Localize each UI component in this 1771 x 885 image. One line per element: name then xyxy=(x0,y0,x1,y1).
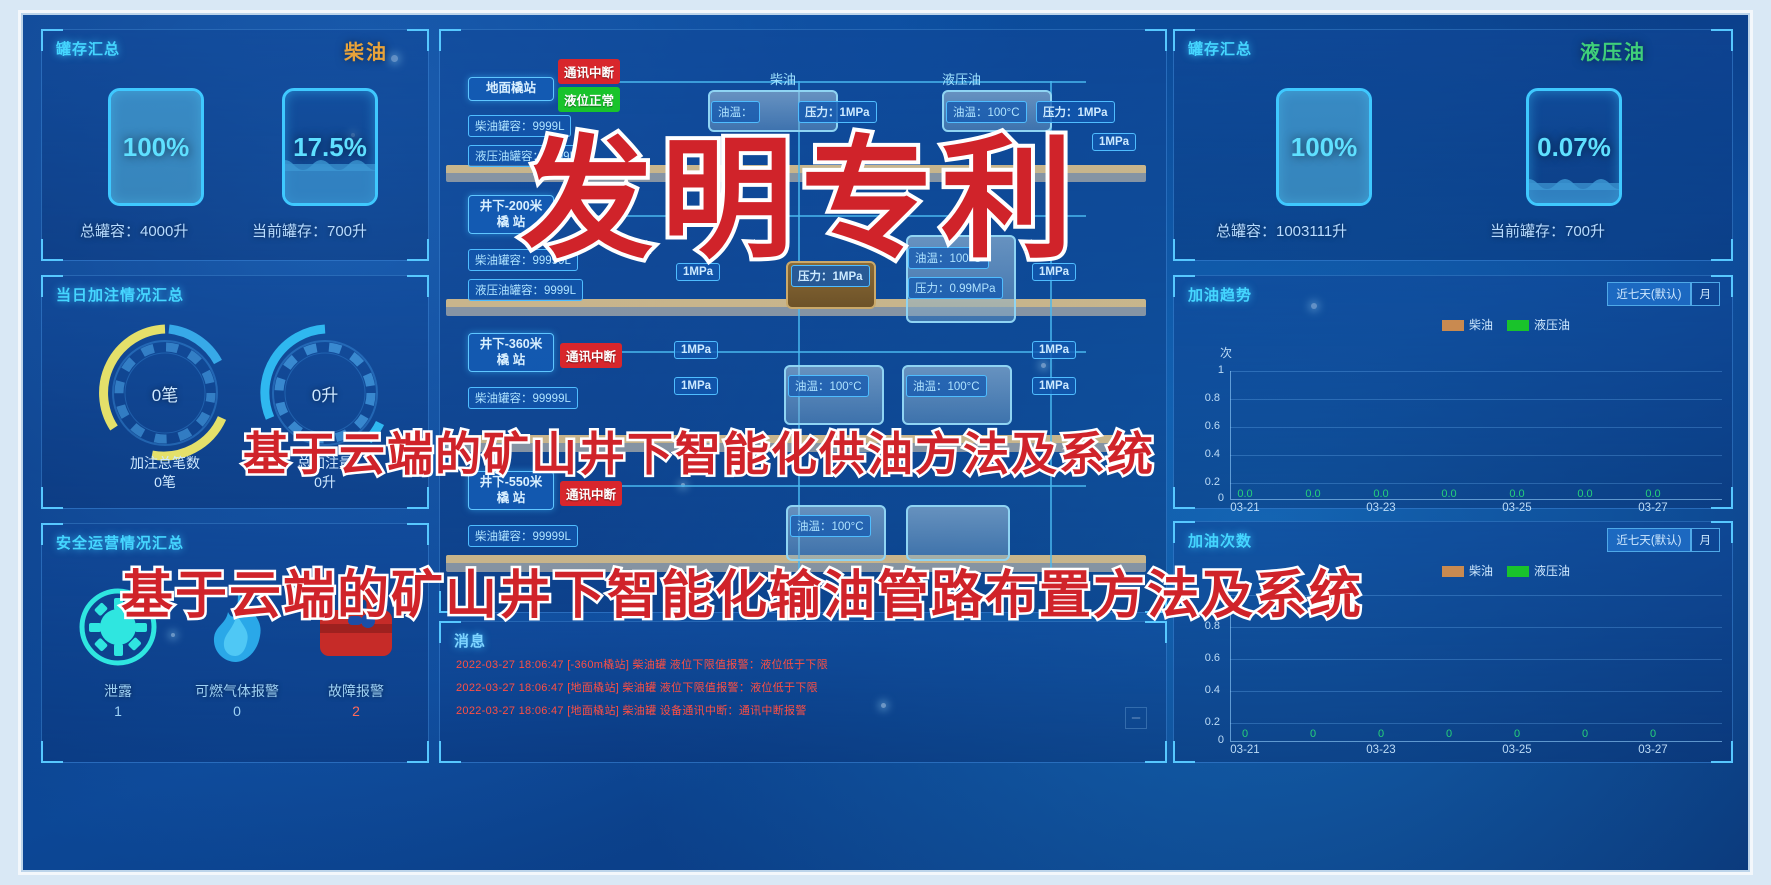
chart-point-label: 0.0 xyxy=(1300,488,1326,500)
chart-xtick: 03-25 xyxy=(1494,744,1540,756)
station-tag-diesel-cap: 柴油罐容：99999L xyxy=(468,387,578,409)
tank-percent-label: 17.5% xyxy=(285,91,375,203)
chart-range-month-button[interactable]: 月 xyxy=(1691,282,1721,306)
chart-x-axis xyxy=(1230,741,1722,742)
panel-title: 罐存汇总 xyxy=(1188,38,1252,59)
safety-label: 可燃气体报警 xyxy=(177,681,297,701)
corner-decor xyxy=(407,239,429,261)
message-list[interactable]: 2022-03-27 18:06:47 [-360m橇站] 柴油罐 液位下限值报… xyxy=(456,656,1154,725)
station-box-360m[interactable]: 井下-360米 橇 站 xyxy=(468,333,554,372)
gauge-caption-line2: 0笔 xyxy=(154,474,176,490)
tank-caption-total: 总罐容：4000升 xyxy=(80,220,188,241)
tank-gauge-total: 100% xyxy=(108,88,204,206)
pressure-tag: 1MPa xyxy=(1032,341,1076,359)
pressure-tag: 1MPa xyxy=(1032,377,1076,395)
tank-caption-total: 总罐容：1003111升 xyxy=(1216,220,1347,241)
chart-ytick: 0.2 xyxy=(1194,716,1220,728)
legend-swatch-hydraulic xyxy=(1507,320,1529,331)
corner-decor xyxy=(1711,741,1733,763)
watermark-line-1: 基于云端的矿山井下智能化供油方法及系统 xyxy=(243,418,1155,484)
chart-point-label: 0.0 xyxy=(1572,488,1598,500)
corner-decor xyxy=(1145,741,1167,763)
station-badge-comm: 通讯中断 xyxy=(560,343,622,368)
watermark-patent-title: 发明专利 xyxy=(521,93,1081,284)
safety-value: 0 xyxy=(177,703,297,719)
chart-point-label: 0.0 xyxy=(1504,488,1530,500)
chart-ytick: 0.8 xyxy=(1194,392,1220,404)
chart-xtick: 03-23 xyxy=(1358,744,1404,756)
meter-oil-temp-550m: 油温：100°C xyxy=(790,515,871,537)
chart-range-month-button[interactable]: 月 xyxy=(1691,528,1721,552)
chart-ytick: 0.2 xyxy=(1194,476,1220,488)
chart-ytick: 1 xyxy=(1198,364,1224,376)
corner-decor xyxy=(407,275,429,297)
chart-xtick: 03-27 xyxy=(1630,502,1676,514)
safety-value: 2 xyxy=(296,703,416,719)
chart-xtick: 03-21 xyxy=(1222,502,1268,514)
legend-swatch-diesel xyxy=(1442,566,1464,577)
corner-decor xyxy=(41,239,63,261)
safety-value: 1 xyxy=(58,703,178,719)
chart-xtick: 03-21 xyxy=(1222,744,1268,756)
pipe-horizontal xyxy=(566,81,1086,83)
chart-ytick: 0 xyxy=(1198,734,1224,746)
corner-decor xyxy=(1711,239,1733,261)
panel-chart-refuel-trend: 加油趋势 近七天(默认) 月 柴油 液压油 次 1 0.8 0.6 0.4 0.… xyxy=(1173,275,1733,509)
chart-point-label: 0.0 xyxy=(1232,488,1258,500)
panel-messages: 消息 2022-03-27 18:06:47 [-360m橇站] 柴油罐 液位下… xyxy=(439,621,1167,763)
chart-y-axis xyxy=(1230,371,1231,499)
corner-decor xyxy=(41,741,63,763)
legend-item-hydraulic: 液压油 xyxy=(1507,316,1570,333)
message-row: 2022-03-27 18:06:47 [-360m橇站] 柴油罐 液位下限值报… xyxy=(456,656,1154,672)
chart-gridline xyxy=(1230,723,1722,724)
message-row: 2022-03-27 18:06:47 [地面橇站] 柴油罐 设备通讯中断：通讯… xyxy=(456,702,1154,718)
station-badge-comm: 通讯中断 xyxy=(560,481,622,506)
panel-subtitle-diesel: 柴油 xyxy=(344,36,388,65)
panel-subtitle-hydraulic: 液压油 xyxy=(1580,36,1646,65)
chart-range-week-button[interactable]: 近七天(默认) xyxy=(1607,528,1690,552)
station-tag-diesel-cap: 柴油罐容：99999L xyxy=(468,525,578,547)
gauge-refuel-count: 0笔 xyxy=(90,318,240,468)
watermark-line-2: 基于云端的矿山井下智能化输油管路布置方法及系统 xyxy=(121,553,1363,628)
pressure-tag: 1MPa xyxy=(674,341,718,359)
chart-gridline xyxy=(1230,427,1722,428)
chart-legend: 柴油 液压油 xyxy=(1442,562,1570,579)
tank-percent-label: 0.07% xyxy=(1529,91,1619,203)
panel-tank-summary-diesel: 罐存汇总 柴油 100% 总罐容：4000升 17.5% 当前罐存：700升 xyxy=(41,29,429,261)
legend-item-diesel: 柴油 xyxy=(1442,562,1493,579)
chart-y-unit: 次 xyxy=(1220,344,1232,361)
chart-point-label: 0 xyxy=(1572,728,1598,740)
tank-percent-label: 100% xyxy=(111,91,201,203)
chart-point-label: 0 xyxy=(1504,728,1530,740)
legend-label-hydraulic: 液压油 xyxy=(1534,318,1570,332)
meter-oil-temp-360m: 油温：100°C xyxy=(788,375,869,397)
gauge-value: 0笔 xyxy=(90,318,240,468)
flow-label-hydraulic: 液压油 xyxy=(936,67,987,90)
corner-decor xyxy=(439,741,461,763)
chart-point-label: 0 xyxy=(1368,728,1394,740)
chart-point-label: 0 xyxy=(1436,728,1462,740)
tank-percent-label: 100% xyxy=(1279,91,1369,203)
chart-point-label: 0 xyxy=(1300,728,1326,740)
tank-gauge-current: 17.5% xyxy=(282,88,378,206)
corner-decor xyxy=(1173,239,1195,261)
tank-gauge-current: 0.07% xyxy=(1526,88,1622,206)
corner-decor xyxy=(1711,29,1733,51)
panel-title: 罐存汇总 xyxy=(56,38,120,59)
message-row: 2022-03-27 18:06:47 [地面橇站] 柴油罐 液位下限值报警：液… xyxy=(456,679,1154,695)
corner-decor xyxy=(1173,487,1195,509)
chart-range-buttons[interactable]: 近七天(默认) 月 xyxy=(1607,282,1720,306)
corner-decor xyxy=(1711,487,1733,509)
safety-label: 泄露 xyxy=(58,681,178,701)
chart-point-label: 0.0 xyxy=(1368,488,1394,500)
dashboard-frame: 罐存汇总 柴油 100% 总罐容：4000升 17.5% 当前罐存：700升 xyxy=(18,10,1753,875)
pressure-tag: 1MPa xyxy=(674,377,718,395)
panel-tank-summary-hydraulic: 罐存汇总 液压油 100% 总罐容：1003111升 0.07% 当前罐存：70… xyxy=(1173,29,1733,261)
meter-oil-temp-360m-b: 油温：100°C xyxy=(906,375,987,397)
station-badge-comm: 通讯中断 xyxy=(558,59,620,84)
chart-point-label: 0.0 xyxy=(1436,488,1462,500)
legend-item-hydraulic: 液压油 xyxy=(1507,562,1570,579)
chart-gridline xyxy=(1230,659,1722,660)
chart-point-label: 0.0 xyxy=(1640,488,1666,500)
panel-title: 加油次数 xyxy=(1188,530,1252,551)
chart-point-label: 0 xyxy=(1232,728,1258,740)
chart-xtick: 03-23 xyxy=(1358,502,1404,514)
flow-label-diesel: 柴油 xyxy=(764,67,802,90)
chart-xtick: 03-27 xyxy=(1630,744,1676,756)
chart-range-buttons[interactable]: 近七天(默认) 月 xyxy=(1607,528,1720,552)
chart-gridline xyxy=(1230,483,1722,484)
chart-gridline xyxy=(1230,455,1722,456)
corner-decor xyxy=(407,487,429,509)
chart-ytick: 0.6 xyxy=(1194,420,1220,432)
panel-title: 消息 xyxy=(454,630,486,651)
chart-legend: 柴油 液压油 xyxy=(1442,316,1570,333)
chart-ytick: 0.4 xyxy=(1194,684,1220,696)
legend-item-diesel: 柴油 xyxy=(1442,316,1493,333)
station-name: 井下-360米 橇 站 xyxy=(480,337,543,367)
panel-title: 加油趋势 xyxy=(1188,284,1252,305)
gauge-caption-count: 加注总笔数 0笔 xyxy=(90,454,240,492)
pressure-tag: 1MPa xyxy=(1092,133,1136,151)
pipe-horizontal xyxy=(566,351,1086,353)
dashboard-screenshot: 罐存汇总 柴油 100% 总罐容：4000升 17.5% 当前罐存：700升 xyxy=(0,0,1771,885)
corner-decor xyxy=(41,487,63,509)
legend-swatch-diesel xyxy=(1442,320,1464,331)
chart-xtick: 03-25 xyxy=(1494,502,1540,514)
pipe-horizontal xyxy=(566,485,1086,487)
legend-label-hydraulic: 液压油 xyxy=(1534,564,1570,578)
corner-decor xyxy=(407,741,429,763)
chart-gridline xyxy=(1230,691,1722,692)
tank-caption-current: 当前罐存：700升 xyxy=(1490,220,1605,241)
gauge-caption-line1: 加注总笔数 xyxy=(130,455,200,471)
corner-decor xyxy=(1173,741,1195,763)
panel-title: 安全运营情况汇总 xyxy=(56,532,184,553)
panel-title: 当日加注情况汇总 xyxy=(56,284,184,305)
chart-point-label: 0 xyxy=(1640,728,1666,740)
chart-ytick: 0 xyxy=(1198,492,1224,504)
chart-gridline xyxy=(1230,399,1722,400)
legend-label-diesel: 柴油 xyxy=(1469,318,1493,332)
tank-caption-current: 当前罐存：700升 xyxy=(252,220,367,241)
corner-decor xyxy=(407,523,429,545)
chart-ytick: 0.6 xyxy=(1194,652,1220,664)
chart-ytick: 0.4 xyxy=(1194,448,1220,460)
legend-label-diesel: 柴油 xyxy=(1469,564,1493,578)
chart-range-week-button[interactable]: 近七天(默认) xyxy=(1607,282,1690,306)
tank-gauge-total: 100% xyxy=(1276,88,1372,206)
corner-decor xyxy=(407,29,429,51)
chart-gridline xyxy=(1230,371,1722,372)
safety-label: 故障报警 xyxy=(296,681,416,701)
legend-swatch-hydraulic xyxy=(1507,566,1529,577)
